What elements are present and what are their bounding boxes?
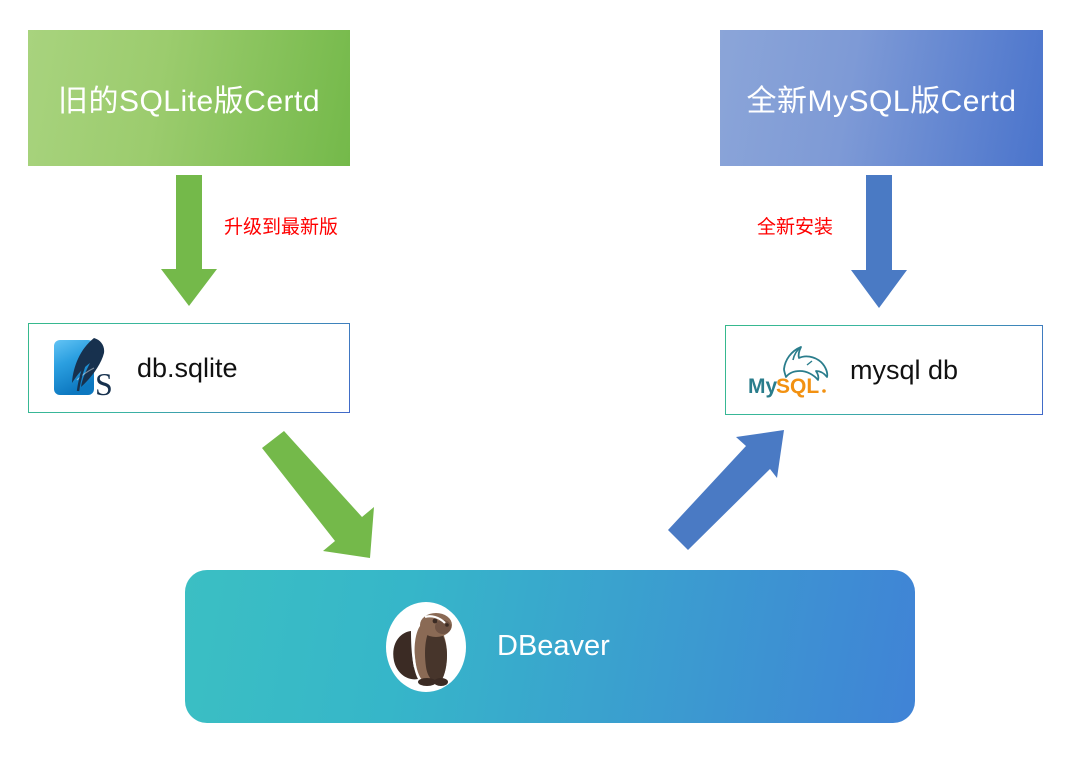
arrow-down-green-upgrade [155,175,245,310]
node-mysql-source-label: 全新MySQL版Certd [747,76,1017,120]
arrow-diagonal-blue-dbeaver-to-mysql [660,420,810,560]
node-dbeaver-label: DBeaver [497,630,610,663]
arrow-diagonal-green-sqlite-to-dbeaver [250,425,390,555]
arrow-label-upgrade: 升级到最新版 [224,212,338,239]
mysql-logo-icon: My SQL [742,340,838,400]
node-db-sqlite: S db.sqlite [28,323,350,413]
diagram-canvas: 旧的SQLite版Certd 全新MySQL版Certd 升级到最新版 全新安装 [0,0,1074,765]
node-db-mysql-label: mysql db [850,355,958,386]
svg-text:S: S [95,366,113,401]
node-mysql-source: 全新MySQL版Certd [720,30,1043,166]
mysql-logo-my-text: My [748,375,777,398]
arrow-down-blue-install [845,175,935,312]
node-db-sqlite-label: db.sqlite [137,353,238,384]
arrow-label-fresh-install: 全新安装 [757,212,833,239]
mysql-logo-sql-text: SQL [776,375,819,398]
node-db-mysql: My SQL mysql db [725,325,1043,415]
node-sqlite-source-label: 旧的SQLite版Certd [58,76,320,120]
node-dbeaver: DBeaver [185,570,915,723]
node-sqlite-source: 旧的SQLite版Certd [28,30,350,166]
dbeaver-beaver-icon [385,601,467,693]
sqlite-logo-icon: S [47,335,123,401]
